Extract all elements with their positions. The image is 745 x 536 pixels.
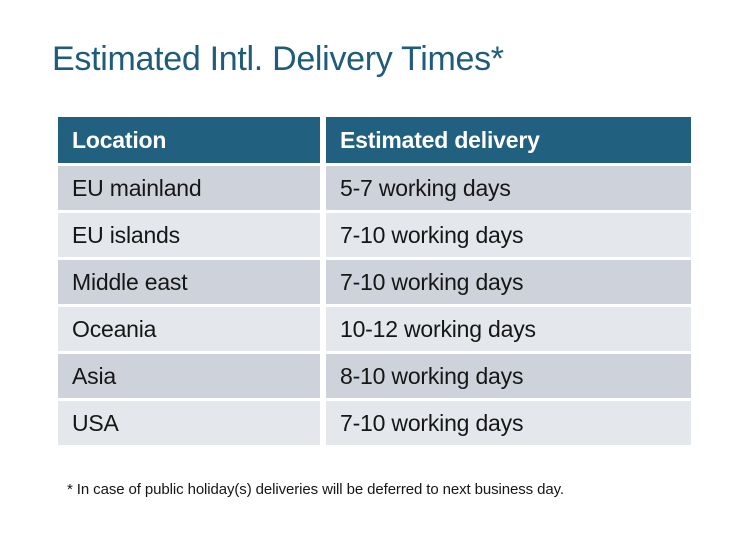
table-header: Location Estimated delivery <box>58 117 691 163</box>
table-row: Asia 8-10 working days <box>58 354 691 398</box>
cell-location: USA <box>58 401 320 445</box>
cell-delivery: 10-12 working days <box>326 307 691 351</box>
table-row: USA 7-10 working days <box>58 401 691 445</box>
table-row: Middle east 7-10 working days <box>58 260 691 304</box>
table-row: EU islands 7-10 working days <box>58 213 691 257</box>
cell-delivery: 7-10 working days <box>326 213 691 257</box>
cell-location: Middle east <box>58 260 320 304</box>
cell-delivery: 7-10 working days <box>326 260 691 304</box>
table-header-row: Location Estimated delivery <box>58 117 691 163</box>
cell-location: EU islands <box>58 213 320 257</box>
cell-location: Oceania <box>58 307 320 351</box>
cell-delivery: 5-7 working days <box>326 166 691 210</box>
cell-location: Asia <box>58 354 320 398</box>
page-title: Estimated Intl. Delivery Times* <box>52 38 504 80</box>
table-row: EU mainland 5-7 working days <box>58 166 691 210</box>
table-body: EU mainland 5-7 working days EU islands … <box>58 166 691 445</box>
cell-delivery: 7-10 working days <box>326 401 691 445</box>
table-row: Oceania 10-12 working days <box>58 307 691 351</box>
estimated-delivery-times-table: Location Estimated delivery EU mainland … <box>52 114 697 448</box>
cell-location: EU mainland <box>58 166 320 210</box>
cell-delivery: 8-10 working days <box>326 354 691 398</box>
delivery-times-page: Estimated Intl. Delivery Times* Location… <box>0 0 745 536</box>
column-header-estimated-delivery: Estimated delivery <box>326 117 691 163</box>
footnote: * In case of public holiday(s) deliverie… <box>67 481 564 498</box>
column-header-location: Location <box>58 117 320 163</box>
